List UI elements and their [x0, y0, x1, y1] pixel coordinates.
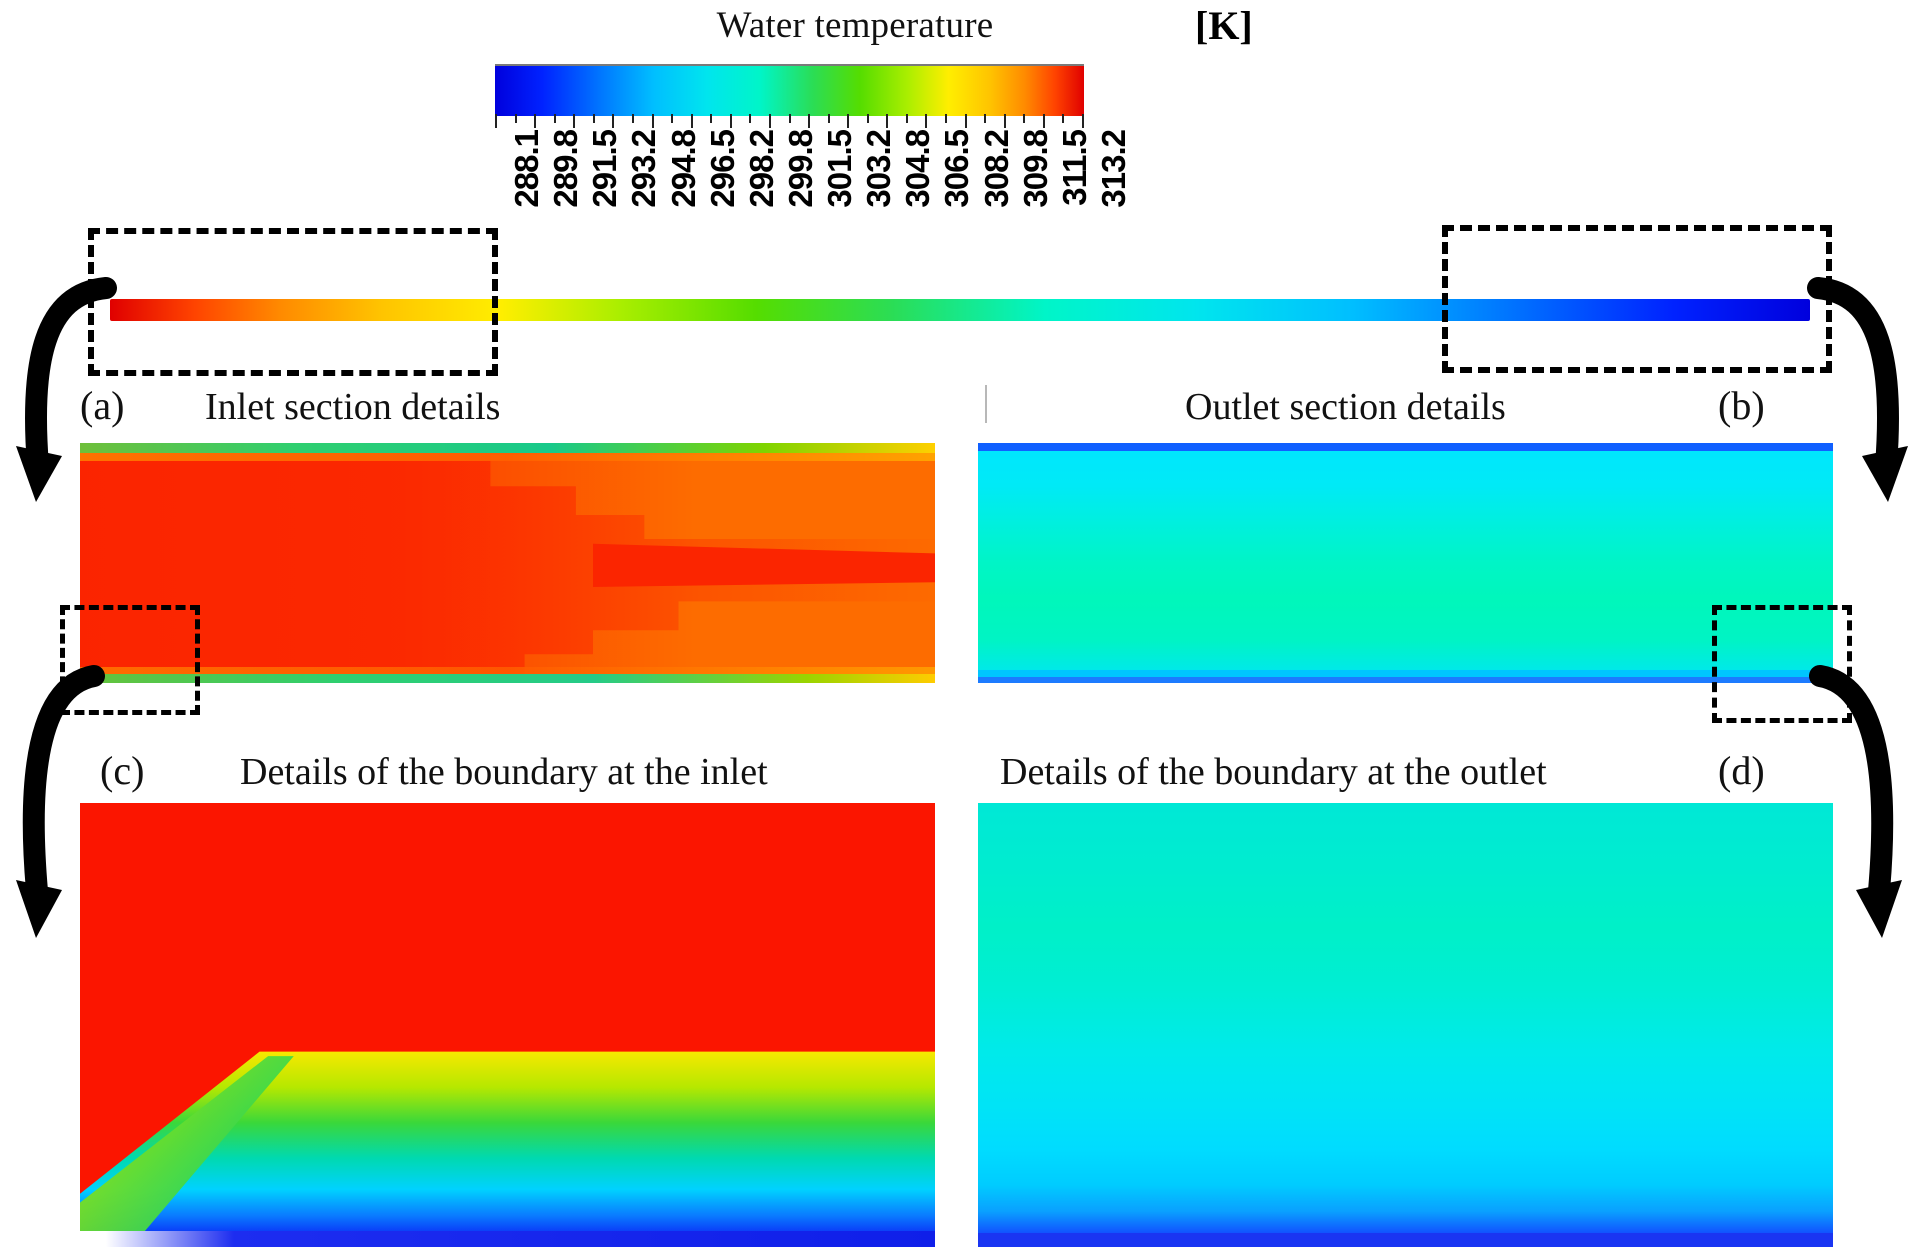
colorbar-tick: [573, 114, 575, 128]
panel-title-b: Outlet section details: [1185, 385, 1506, 429]
panel-title-c: Details of the boundary at the inlet: [240, 750, 768, 794]
colorbar-tick-label: 299.8: [782, 130, 820, 208]
colorbar-tick: [612, 114, 614, 128]
colorbar: Water temperature [K] 288.1289.8291.5293…: [595, 2, 1315, 232]
colorbar-tick-label: 288.1: [508, 130, 546, 208]
colorbar-tick-label: 309.8: [1017, 130, 1055, 208]
colorbar-minor-tick: [749, 114, 751, 123]
colorbar-tick-labels: 288.1289.8291.5293.2294.8296.5298.2299.8…: [495, 130, 1084, 230]
colorbar-minor-tick: [671, 114, 673, 123]
panel-a-inlet-section: [80, 443, 935, 683]
colorbar-tick-label: 311.5: [1056, 130, 1094, 206]
colorbar-minor-tick: [945, 114, 947, 123]
colorbar-minor-tick: [984, 114, 986, 123]
colorbar-tick-label: 296.5: [704, 130, 742, 208]
colorbar-minor-tick: [632, 114, 634, 123]
colorbar-tick-label: 294.8: [665, 130, 703, 208]
colorbar-tick: [925, 114, 927, 128]
colorbar-tick: [1082, 114, 1084, 128]
panel-letter-c: (c): [100, 747, 144, 794]
panel-letter-d: (d): [1718, 747, 1765, 794]
colorbar-unit-label: [K]: [1195, 2, 1253, 49]
colorbar-tick-axis: [495, 114, 1084, 128]
panel-letter-b: (b): [1718, 382, 1765, 429]
panel-c-inlet-boundary: [80, 803, 935, 1247]
colorbar-tick: [1004, 114, 1006, 128]
colorbar-minor-tick: [1023, 114, 1025, 123]
colorbar-tick: [886, 114, 888, 128]
colorbar-tick: [965, 114, 967, 128]
colorbar-tick-label: 301.5: [821, 130, 859, 208]
colorbar-tick: [847, 114, 849, 128]
colorbar-gradient: [495, 64, 1084, 116]
colorbar-tick: [534, 114, 536, 128]
outlet-callout-box: [1442, 225, 1832, 373]
panel-title-a: Inlet section details: [205, 385, 500, 429]
panel-a-top-wall-film: [80, 443, 935, 453]
colorbar-title: Water temperature: [595, 4, 1115, 47]
colorbar-tick: [652, 114, 654, 128]
colorbar-minor-tick: [1062, 114, 1064, 123]
colorbar-minor-tick: [867, 114, 869, 123]
colorbar-tick-label: 308.2: [978, 130, 1016, 208]
panel-d-outlet-boundary: [978, 803, 1833, 1247]
panel-title-d: Details of the boundary at the outlet: [1000, 750, 1547, 794]
colorbar-tick-label: 304.8: [899, 130, 937, 208]
colorbar-tick: [495, 114, 497, 128]
colorbar-tick-label: 293.2: [625, 130, 663, 208]
colorbar-minor-tick: [593, 114, 595, 123]
colorbar-tick: [808, 114, 810, 128]
panel-letter-a: (a): [80, 382, 124, 429]
colorbar-tick: [730, 114, 732, 128]
column-divider: [985, 385, 987, 423]
colorbar-tick: [769, 114, 771, 128]
colorbar-tick-label: 291.5: [586, 130, 624, 208]
colorbar-tick: [1043, 114, 1045, 128]
colorbar-minor-tick: [789, 114, 791, 123]
inlet-callout-box: [88, 228, 498, 376]
colorbar-minor-tick: [828, 114, 830, 123]
colorbar-minor-tick: [710, 114, 712, 123]
panel-a-bottom-wall-film: [80, 674, 935, 683]
figure-root: Water temperature [K] 288.1289.8291.5293…: [0, 0, 1914, 1247]
colorbar-tick-label: 289.8: [547, 130, 585, 208]
colorbar-minor-tick: [554, 114, 556, 123]
colorbar-minor-tick: [906, 114, 908, 123]
colorbar-tick-label: 306.5: [938, 130, 976, 208]
colorbar-tick-label: 303.2: [860, 130, 898, 208]
colorbar-tick: [691, 114, 693, 128]
colorbar-minor-tick: [515, 114, 517, 123]
colorbar-tick-label: 298.2: [743, 130, 781, 208]
colorbar-tick-label: 313.2: [1095, 130, 1133, 208]
panel-b-outlet-section: [978, 443, 1833, 683]
